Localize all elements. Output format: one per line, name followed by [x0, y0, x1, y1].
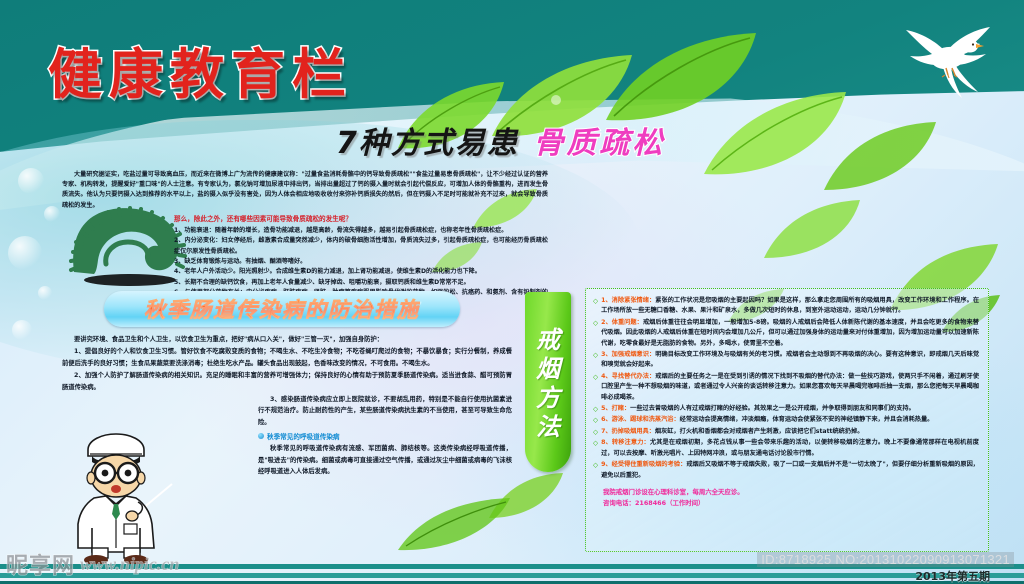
article-intestinal: 要讲究环境、食品卫生和个人卫生，以饮食卫生为重点，把好"病从口入关"，做好"三管… [62, 334, 512, 478]
quit-smoking-vertical-banner: 戒 烟 方 法 [525, 292, 571, 472]
leaf-icon [820, 118, 940, 196]
list-item-heading: 5、打赌： [601, 405, 630, 412]
leaf-icon [760, 196, 864, 264]
decorative-bubble [18, 168, 44, 194]
diamond-bullet-icon: ◇ [593, 350, 598, 371]
watermark-left: 昵享网 www.nipic.cn [6, 548, 179, 580]
list-item-text: 7、扔掉吸烟用具：烟灰缸，打火机和香烟都会对戒烟者产生刺激，应该把它们statt… [601, 427, 863, 437]
banner-char: 方 [536, 385, 560, 412]
banner-title: 秋季肠道传染病的防治措施 [144, 294, 420, 324]
list-item-text: 8、转移注意力：尤其是在戒烟初期，多花点钱从事一些会带来乐趣的活动，以便转移吸烟… [601, 438, 979, 459]
bullet-dot-icon [258, 433, 264, 439]
list-item-text: 1、消除紧张情绪：紧张的工作状况是您吸烟的主要起因吗？如果是这样，那么拿走您周围… [601, 296, 979, 317]
list-item-text: 4、寻找替代办法：戒烟后的主要任务之一是在受到引诱的情况下找到不吸烟的替代办法：… [601, 372, 979, 403]
subtitle: 7种方式易患 骨质疏松 [336, 118, 665, 162]
leaf-icon [394, 494, 514, 556]
decorative-bubble [12, 320, 32, 340]
subtitle-main: 7种方式易患 [336, 126, 519, 161]
list-item-text: 2、体重问题：戒烟后体重往往会明显增加，一般增加5-8磅。吸烟的人戒烟后会降低人… [601, 318, 979, 349]
list-item-body: 经常运动会提高情绪，冲淡烟瘾，体育运动会使紧张不安的神经镇静下来，并且会消耗热量… [680, 416, 934, 423]
diamond-bullet-icon: ◇ [593, 438, 598, 459]
list-item: 2、内分泌变化：妇女停经后，雌激素合成量突然减少，体内的破骨细胞活性增加，骨质流… [174, 236, 548, 257]
list-item-body: 戒烟后体重往往会明显增加，一般增加5-8磅。吸烟的人戒烟后会降低人体新陈代谢的基… [601, 319, 979, 347]
decorative-bubble [8, 236, 42, 270]
diamond-bullet-icon: ◇ [593, 460, 598, 481]
contact-line: 我院戒烟门诊设在心理科诊室，每周六全天应诊。 [603, 487, 979, 498]
article-item: 2、加强个人防护了解肠道传染病的相关知识。充足的睡眠和丰富的营养可增强体力；保持… [62, 370, 512, 393]
list-item: ◇ 5、打赌：一些过去曾吸烟的人有过戒烟打赌的好经验。其效果之一是公开戒烟，并争… [593, 404, 979, 414]
dove-icon [886, 20, 1016, 110]
list-item-body: 明确目标改变工作环境及与吸烟有关的老习惯。戒烟者会主动想到不再吸烟的决心。要有这… [601, 351, 979, 368]
health-education-poster: 健康教育栏 7种方式易患 骨质疏松 大量研究据证实，吃盐过量可导致高血压，而近来… [0, 0, 1024, 584]
list-item-body: 尤其是在戒烟初期，多花点钱从事一些会带来乐趣的活动，以便转移吸烟的注意力。晚上不… [601, 439, 979, 456]
list-item: ◇ 6、游泳、踢球和洗蒸汽浴：经常运动会提高情绪，冲淡烟瘾，体育运动会使紧张不安… [593, 415, 979, 425]
list-item-body: 紧张的工作状况是您吸烟的主要起因吗？如果是这样，那么拿走您周围所有的吸烟用具，改… [601, 297, 979, 314]
list-item-heading: 4、寻找替代办法： [601, 373, 655, 380]
list-item: 1、功能衰退：随着年龄的增长，造骨功能减退，越是高龄，骨流失得越多，越易引起骨质… [174, 226, 548, 236]
watermark-site-name: 昵享网 [6, 548, 75, 580]
diamond-bullet-icon: ◇ [593, 296, 598, 317]
article-paragraph: 大量研究据证实，吃盐过量可导致高血压，而近来在微博上广为流传的健康建议称："过量… [62, 170, 548, 211]
issue-label: 2013年第五期 [915, 568, 990, 584]
banner-char: 戒 [536, 327, 560, 354]
list-item-heading: 6、游泳、踢球和洗蒸汽浴： [601, 416, 680, 423]
quit-smoking-panel: ◇ 1、消除紧张情绪：紧张的工作状况是您吸烟的主要起因吗？如果是这样，那么拿走您… [585, 288, 989, 552]
list-item-heading: 2、体重问题： [601, 319, 643, 326]
sub-heading-respiratory: 秋季常见的呼吸道传染病 [258, 431, 512, 441]
section-banner-intestinal: 秋季肠道传染病的防治措施 [104, 291, 460, 327]
sub-heading-label: 秋季常见的呼吸道传染病 [267, 431, 340, 441]
clinic-contact-info: 我院戒烟门诊设在心理科诊室，每周六全天应诊。 咨询电话：2168466（工作时间… [603, 487, 979, 509]
article-item: 1、提倡良好的个人和饮食卫生习惯。管好饮食不吃腐败变质的食物；不喝生水、不吃生冷… [62, 346, 512, 369]
article-intro: 要讲究环境、食品卫生和个人卫生，以饮食卫生为重点，把好"病从口入关"，做好"三管… [62, 334, 512, 345]
list-item-body: 一些过去曾吸烟的人有过戒烟打赌的好经验。其效果之一是公开戒烟，并争取得到朋友和同… [630, 405, 915, 412]
diamond-bullet-icon: ◇ [593, 318, 598, 349]
list-item-heading: 1、消除紧张情绪： [601, 297, 655, 304]
list-item-text: 6、游泳、踢球和洗蒸汽浴：经常运动会提高情绪，冲淡烟瘾，体育运动会使紧张不安的神… [601, 415, 933, 425]
diamond-bullet-icon: ◇ [593, 415, 598, 425]
diamond-bullet-icon: ◇ [593, 372, 598, 403]
list-item-heading: 8、转移注意力： [601, 439, 650, 446]
contact-line: 咨询电话：2168466（工作时间） [603, 498, 979, 509]
watermark-site-url: www.nipic.cn [80, 554, 179, 575]
list-item: 4、老年人户外活动少。阳光照射少。合成维生素D的能力减退，加上肾功能减退，使维生… [174, 267, 548, 277]
subtitle-highlight: 骨质疏松 [533, 126, 665, 161]
diamond-bullet-icon: ◇ [593, 404, 598, 414]
decorative-bubble [44, 206, 60, 222]
decorative-bubble [38, 286, 52, 300]
list-item: ◇ 7、扔掉吸烟用具：烟灰缸，打火机和香烟都会对戒烟者产生刺激，应该把它们sta… [593, 427, 979, 437]
banner-char: 法 [536, 414, 560, 441]
list-item-heading: 3、加强戒烟意识： [601, 351, 655, 358]
list-item: ◇ 1、消除紧张情绪：紧张的工作状况是您吸烟的主要起因吗？如果是这样，那么拿走您… [593, 296, 979, 317]
list-item: ◇ 3、加强戒烟意识：明确目标改变工作环境及与吸烟有关的老习惯。戒烟者会主动想到… [593, 350, 979, 371]
list-item: ◇ 9、经受得住重新吸烟的考验：戒烟后又吸烟不等于戒烟失败，吸了一口或一支烟后并… [593, 460, 979, 481]
section-question: 那么，除此之外，还有哪些因素可能导致骨质疏松的发生呢？ [174, 214, 548, 224]
list-item-heading: 7、扔掉吸烟用具： [601, 428, 655, 435]
list-item-text: 9、经受得住重新吸烟的考验：戒烟后又吸烟不等于戒烟失败，吸了一口或一支烟后并不是… [601, 460, 979, 481]
page-title: 健康教育栏 [48, 30, 353, 109]
list-item-body: 烟灰缸，打火机和香烟都会对戒烟者产生刺激，应该把它们statt统统扔掉。 [655, 428, 864, 435]
list-item-text: 5、打赌：一些过去曾吸烟的人有过戒烟打赌的好经验。其效果之一是公开戒烟，并争取得… [601, 404, 915, 414]
list-item-body: 戒烟后的主要任务之一是在受到引诱的情况下找到不吸烟的替代办法：做一些技巧游戏，使… [601, 373, 979, 401]
article-paragraph: 秋季常见的呼吸道传染病有流感、军团菌病、肺结核等。这类传染病经呼吸道传播，是"吸… [258, 443, 512, 477]
watermark-id: ID:8718925 NO:20131022090913071321 [757, 552, 1014, 567]
diamond-bullet-icon: ◇ [593, 427, 598, 437]
list-item: 3、缺乏体育锻炼与运动。有抽烟、酗酒等嗜好。 [174, 257, 548, 267]
article-item: 3、感染肠道传染病应立即上医院就诊，不要胡乱用药，特别是不能自行使用抗菌素进行不… [258, 394, 512, 428]
list-item-heading: 9、经受得住重新吸烟的考验： [601, 461, 686, 468]
list-item: ◇ 4、寻找替代办法：戒烟后的主要任务之一是在受到引诱的情况下找到不吸烟的替代办… [593, 372, 979, 403]
list-item: ◇ 2、体重问题：戒烟后体重往往会明显增加，一般增加5-8磅。吸烟的人戒烟后会降… [593, 318, 979, 349]
list-item: ◇ 8、转移注意力：尤其是在戒烟初期，多花点钱从事一些会带来乐趣的活动，以便转移… [593, 438, 979, 459]
list-item: 5、长期不合理的缺钙饮食，再加上老年人食量减少、缺牙掉齿、咀嚼功能衰，摄取钙质和… [174, 278, 548, 288]
list-item-text: 3、加强戒烟意识：明确目标改变工作环境及与吸烟有关的老习惯。戒烟者会主动想到不再… [601, 350, 979, 371]
banner-char: 烟 [536, 356, 560, 383]
